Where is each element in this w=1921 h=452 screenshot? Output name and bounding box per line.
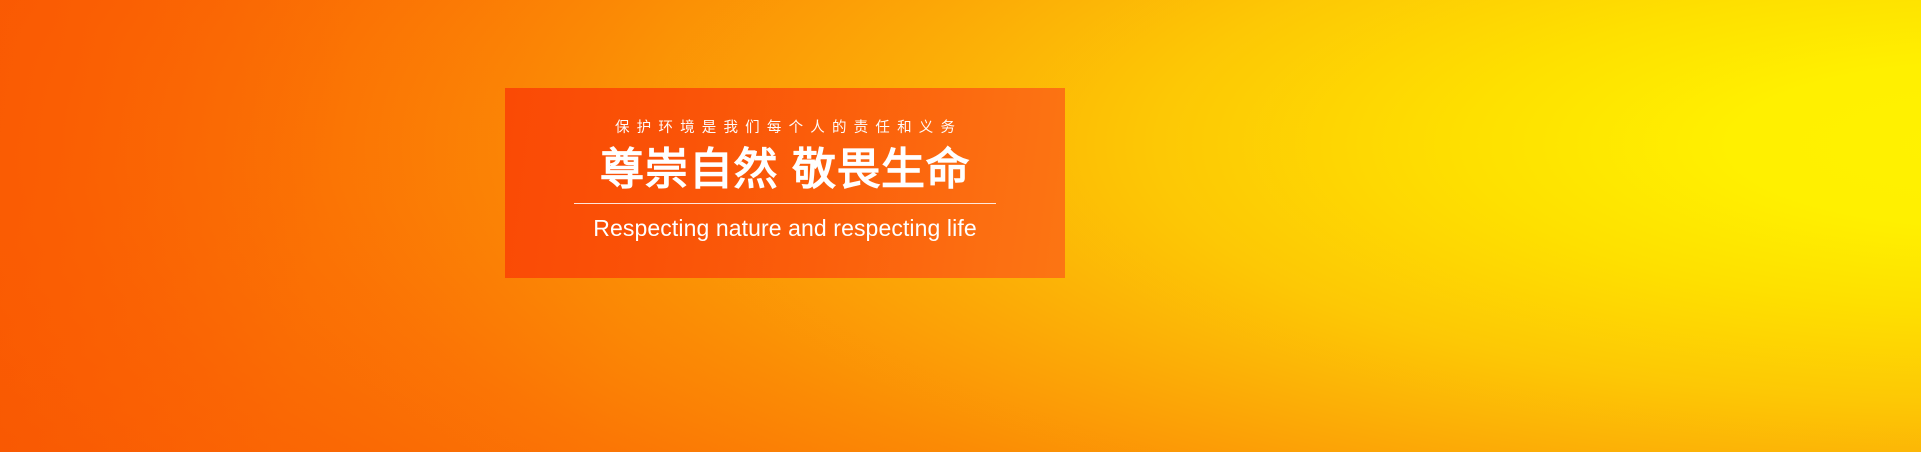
card-headline-part-2: 敬畏生命 [792, 145, 970, 194]
card-tagline: 保护环境是我们每个人的责任和义务 [608, 121, 962, 136]
card-headline-part-1: 尊崇自然 [600, 145, 778, 194]
slogan-card: 保护环境是我们每个人的责任和义务 尊崇自然敬畏生命 Respecting nat… [505, 88, 1065, 278]
eco-slogan-banner: 保护环境是我们每个人的责任和义务 尊崇自然敬畏生命 Respecting nat… [0, 0, 1921, 452]
card-headline: 尊崇自然敬畏生命 [600, 147, 970, 193]
card-subtitle: Respecting nature and respecting life [593, 217, 976, 240]
card-divider [574, 203, 996, 204]
